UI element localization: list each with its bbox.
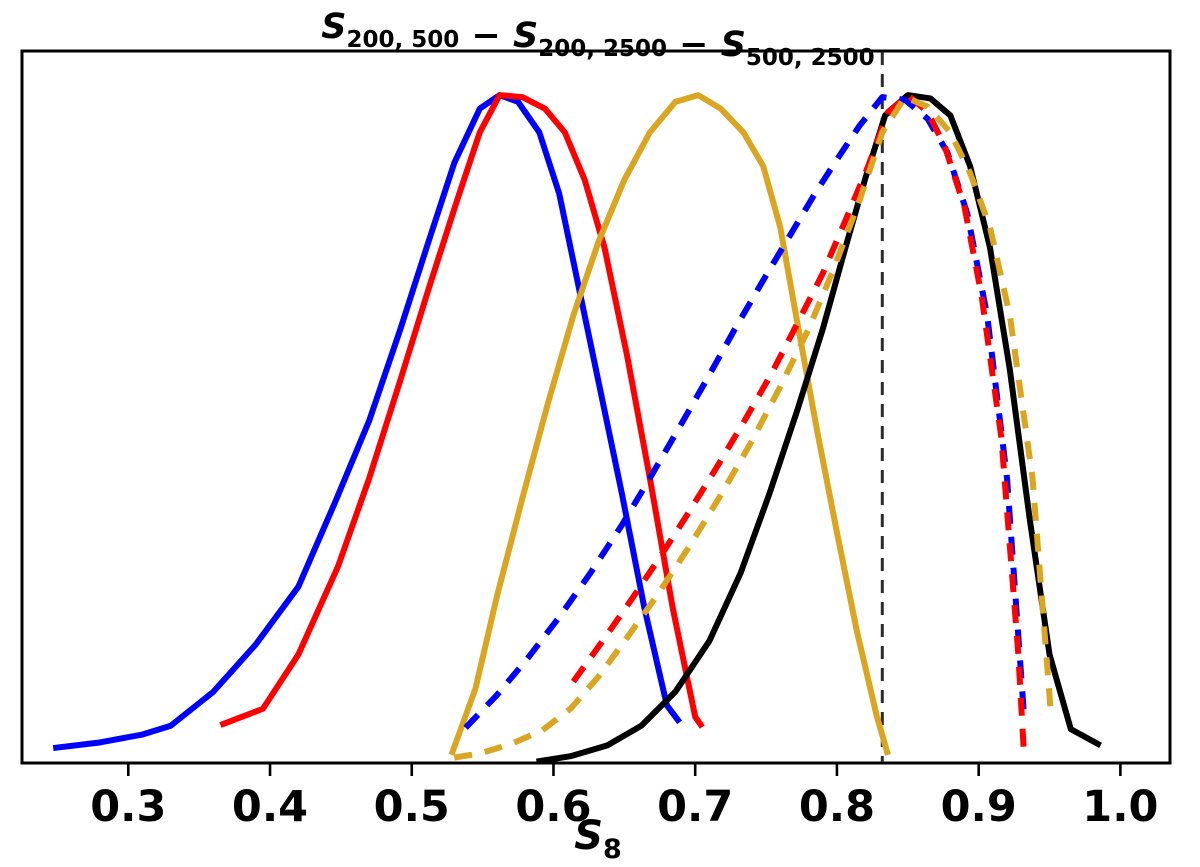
x-tick-label-0.5: 0.5 bbox=[374, 782, 450, 832]
chart-title: S200, 500 − S200, 2500 − S500, 2500 bbox=[321, 7, 874, 71]
x-tick-label-0.3: 0.3 bbox=[90, 782, 166, 832]
curve-layer bbox=[53, 95, 1100, 762]
x-tick-label-0.9: 0.9 bbox=[941, 782, 1017, 832]
x-axis-tick-marks bbox=[128, 763, 1120, 776]
x-tick-label-1.0: 1.0 bbox=[1082, 782, 1158, 832]
chart-svg: S200, 500 − S200, 2500 − S500, 2500 0.30… bbox=[0, 0, 1200, 867]
curve-blue-dashed bbox=[466, 97, 1024, 728]
x-tick-label-0.8: 0.8 bbox=[799, 782, 875, 832]
curve-gold-solid bbox=[451, 95, 888, 755]
x-axis-tick-labels: 0.30.40.50.60.70.80.91.0 bbox=[90, 782, 1158, 832]
x-axis-label: S8 bbox=[574, 813, 622, 865]
figure-container: S200, 500 − S200, 2500 − S500, 2500 0.30… bbox=[0, 0, 1200, 867]
x-tick-label-0.4: 0.4 bbox=[232, 782, 308, 832]
axes-frame bbox=[22, 51, 1170, 763]
x-tick-label-0.7: 0.7 bbox=[657, 782, 733, 832]
